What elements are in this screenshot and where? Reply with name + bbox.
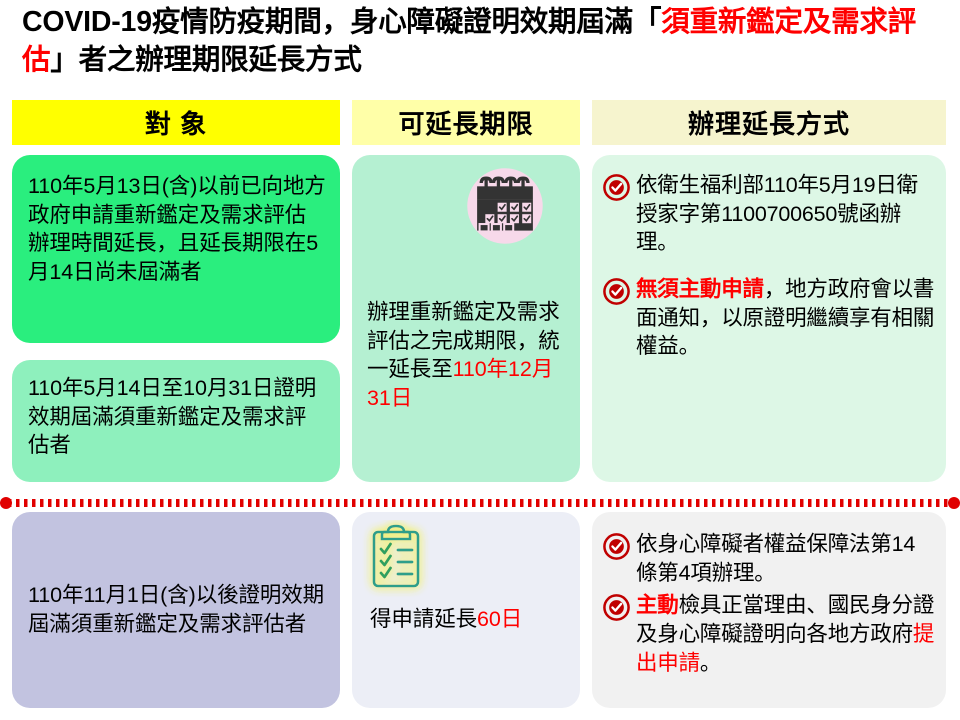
procedure-bullet-row1-1-text: 依衛生福利部110年5月19日衛授家字第1100700650號函辦理。 [636,171,936,257]
procedure-bullet-list-row2: 依身心障礙者權益保障法第14條第4項辦理。 主動檢具正當理由、國民身分證及身心障… [602,530,936,677]
column-header-object-label: 對 象 [145,104,207,141]
calendar-icon [464,165,546,247]
object-cell-row1-item2: 110年5月14日至10月31日證明效期屆滿須重新鑑定及需求評估者 [12,360,340,482]
column-header-procedure: 辦理延長方式 [592,100,946,145]
column-header-extension-term: 可延長期限 [352,100,580,145]
page-title: COVID-19疫情防疫期間，身心障礙證明效期屆滿「須重新鑑定及需求評估」者之辦… [22,4,946,80]
procedure-bullet-row1-2: 無須主動申請，地方政府會以書面通知，以原證明繼續享有相關權益。 [602,275,936,361]
check-circle-icon [602,277,631,306]
red-dotted-divider [0,496,960,510]
procedure-bullet-row2-1: 依身心障礙者權益保障法第14條第4項辦理。 [602,530,936,587]
procedure-bullet-row2-2-mid: 檢具正當理由、國民身分證及身心障礙證明向各地方政府 [636,593,934,646]
column-header-extension-term-label: 可延長期限 [398,104,533,141]
procedure-bullet-list-row1: 依衛生福利部110年5月19日衛授家字第1100700650號函辦理。 無須主動… [602,171,936,361]
term-cell-row2-text-plain: 得申請延長 [370,607,477,631]
procedure-bullet-row2-2-end: 。 [700,651,721,675]
column-header-object: 對 象 [12,100,340,145]
procedure-cell-row2: 依身心障礙者權益保障法第14條第4項辦理。 主動檢具正當理由、國民身分證及身心障… [592,512,946,708]
term-cell-row2-text: 得申請延長60日 [370,605,570,634]
clipboard-check-icon [360,520,440,600]
procedure-bullet-row2-2: 主動檢具正當理由、國民身分證及身心障礙證明向各地方政府提出申請。 [602,591,936,677]
procedure-bullet-row2-1-text: 依身心障礙者權益保障法第14條第4項辦理。 [636,530,936,587]
infographic-page: COVID-19疫情防疫期間，身心障礙證明效期屆滿「須重新鑑定及需求評估」者之辦… [0,0,960,720]
object-cell-row1-item1-text: 110年5月13日(含)以前已向地方政府申請重新鑑定及需求評估辦理時間延長，且延… [28,172,326,287]
procedure-bullet-row2-2-hl1: 主動 [636,593,679,617]
term-cell-row1: 辦理重新鑑定及需求評估之完成期限，統一延長至110年12月31日 [352,155,580,482]
check-circle-icon [602,173,631,202]
procedure-bullet-row1-2-highlight: 無須主動申請 [636,277,764,301]
object-cell-row2-item1: 110年11月1日(含)以後證明效期屆滿須重新鑑定及需求評估者 [12,512,340,708]
term-cell-row1-text: 辦理重新鑑定及需求評估之完成期限，統一延長至110年12月31日 [367,298,568,413]
term-cell-row2-text-highlight: 60日 [477,607,522,631]
object-cell-row2-item1-text: 110年11月1日(含)以後證明效期屆滿須重新鑑定及需求評估者 [28,581,326,638]
procedure-bullet-row2-2-text: 主動檢具正當理由、國民身分證及身心障礙證明向各地方政府提出申請。 [636,591,936,677]
object-cell-row1-item2-text: 110年5月14日至10月31日證明效期屆滿須重新鑑定及需求評估者 [28,374,326,460]
title-part-1: COVID-19疫情防疫期間，身心障礙證明效期屆滿「 [22,6,661,38]
term-cell-row2: 得申請延長60日 [352,512,580,708]
check-circle-icon [602,593,631,622]
check-circle-icon [602,532,631,561]
object-cell-row1-item1: 110年5月13日(含)以前已向地方政府申請重新鑑定及需求評估辦理時間延長，且延… [12,155,340,343]
procedure-bullet-row1-2-text: 無須主動申請，地方政府會以書面通知，以原證明繼續享有相關權益。 [636,275,936,361]
title-part-2: 」者之辦理期限延長方式 [50,44,361,76]
procedure-cell-row1: 依衛生福利部110年5月19日衛授家字第1100700650號函辦理。 無須主動… [592,155,946,482]
column-header-procedure-label: 辦理延長方式 [688,104,850,141]
procedure-bullet-row1-1: 依衛生福利部110年5月19日衛授家字第1100700650號函辦理。 [602,171,936,257]
